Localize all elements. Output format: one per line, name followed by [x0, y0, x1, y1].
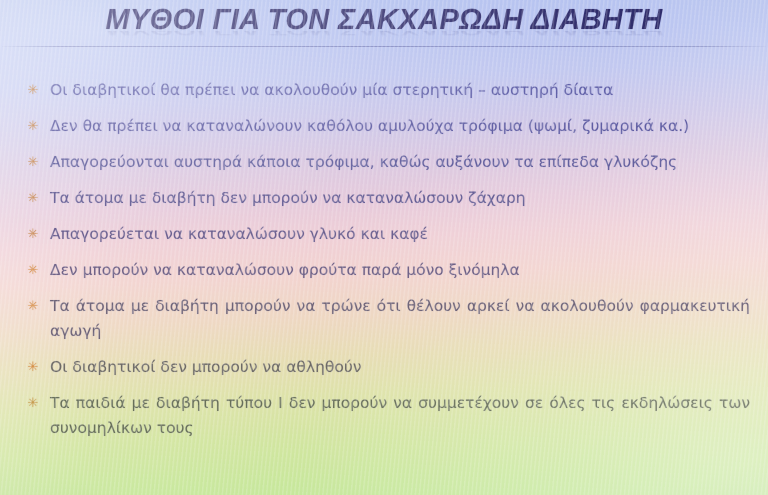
- star-bullet-icon: ✳: [16, 114, 50, 139]
- list-item-label: Απαγορεύεται να καταναλώσουν γλυκό και κ…: [50, 222, 750, 247]
- list-item-label: Δεν μπορούν να καταναλώσουν φρούτα παρά …: [50, 258, 750, 283]
- list-item-label: Απαγορεύονται αυστηρά κάποια τρόφιμα, κα…: [50, 150, 750, 175]
- presentation-slide: ΜΥΘΟΙ ΓΙΑ ΤΟΝ ΣΑΚΧΑΡΩΔΗ ΔΙΑΒΗΤΗ ΜΥΘΟΙ ΓΙ…: [0, 0, 768, 495]
- star-bullet-icon: ✳: [16, 391, 50, 416]
- page-title-reflection: ΜΥΘΟΙ ΓΙΑ ΤΟΝ ΣΑΚΧΑΡΩΔΗ ΔΙΑΒΗΤΗ: [0, 31, 768, 38]
- list-item-label: Δεν θα πρέπει να καταναλώνουν καθόλου αμ…: [50, 114, 750, 139]
- title-divider: [2, 46, 766, 47]
- myth-bullet-list: ✳ Οι διαβητικοί θα πρέπει να ακολουθούν …: [0, 78, 768, 452]
- list-item-label: Τα παιδιά με διαβήτη τύπου Ι δεν μπορούν…: [50, 391, 750, 441]
- star-bullet-icon: ✳: [16, 258, 50, 283]
- list-item: ✳ Τα άτομα με διαβήτη μπορούν να τρώνε ό…: [0, 294, 768, 344]
- list-item-label: Οι διαβητικοί θα πρέπει να ακολουθούν μί…: [50, 78, 750, 103]
- star-bullet-icon: ✳: [16, 222, 50, 247]
- star-bullet-icon: ✳: [16, 186, 50, 211]
- star-bullet-icon: ✳: [16, 294, 50, 319]
- star-bullet-icon: ✳: [16, 150, 50, 175]
- list-item-label: Τα άτομα με διαβήτη δεν μπορούν να καταν…: [50, 186, 750, 211]
- list-item: ✳ Δεν μπορούν να καταναλώσουν φρούτα παρ…: [0, 258, 768, 283]
- list-item: ✳ Τα άτομα με διαβήτη δεν μπορούν να κατ…: [0, 186, 768, 211]
- list-item: ✳ Οι διαβητικοί δεν μπορούν να αθληθούν: [0, 355, 768, 380]
- list-item: ✳ Απαγορεύεται να καταναλώσουν γλυκό και…: [0, 222, 768, 247]
- list-item: ✳ Δεν θα πρέπει να καταναλώνουν καθόλου …: [0, 114, 768, 139]
- list-item-label: Τα άτομα με διαβήτη μπορούν να τρώνε ότι…: [50, 294, 750, 344]
- star-bullet-icon: ✳: [16, 355, 50, 380]
- list-item: ✳ Απαγορεύονται αυστηρά κάποια τρόφιμα, …: [0, 150, 768, 175]
- star-bullet-icon: ✳: [16, 78, 50, 103]
- list-item: ✳ Τα παιδιά με διαβήτη τύπου Ι δεν μπορο…: [0, 391, 768, 441]
- list-item-label: Οι διαβητικοί δεν μπορούν να αθληθούν: [50, 355, 750, 380]
- list-item: ✳ Οι διαβητικοί θα πρέπει να ακολουθούν …: [0, 78, 768, 103]
- slide-content-layer: ΜΥΘΟΙ ΓΙΑ ΤΟΝ ΣΑΚΧΑΡΩΔΗ ΔΙΑΒΗΤΗ ΜΥΘΟΙ ΓΙ…: [0, 0, 768, 495]
